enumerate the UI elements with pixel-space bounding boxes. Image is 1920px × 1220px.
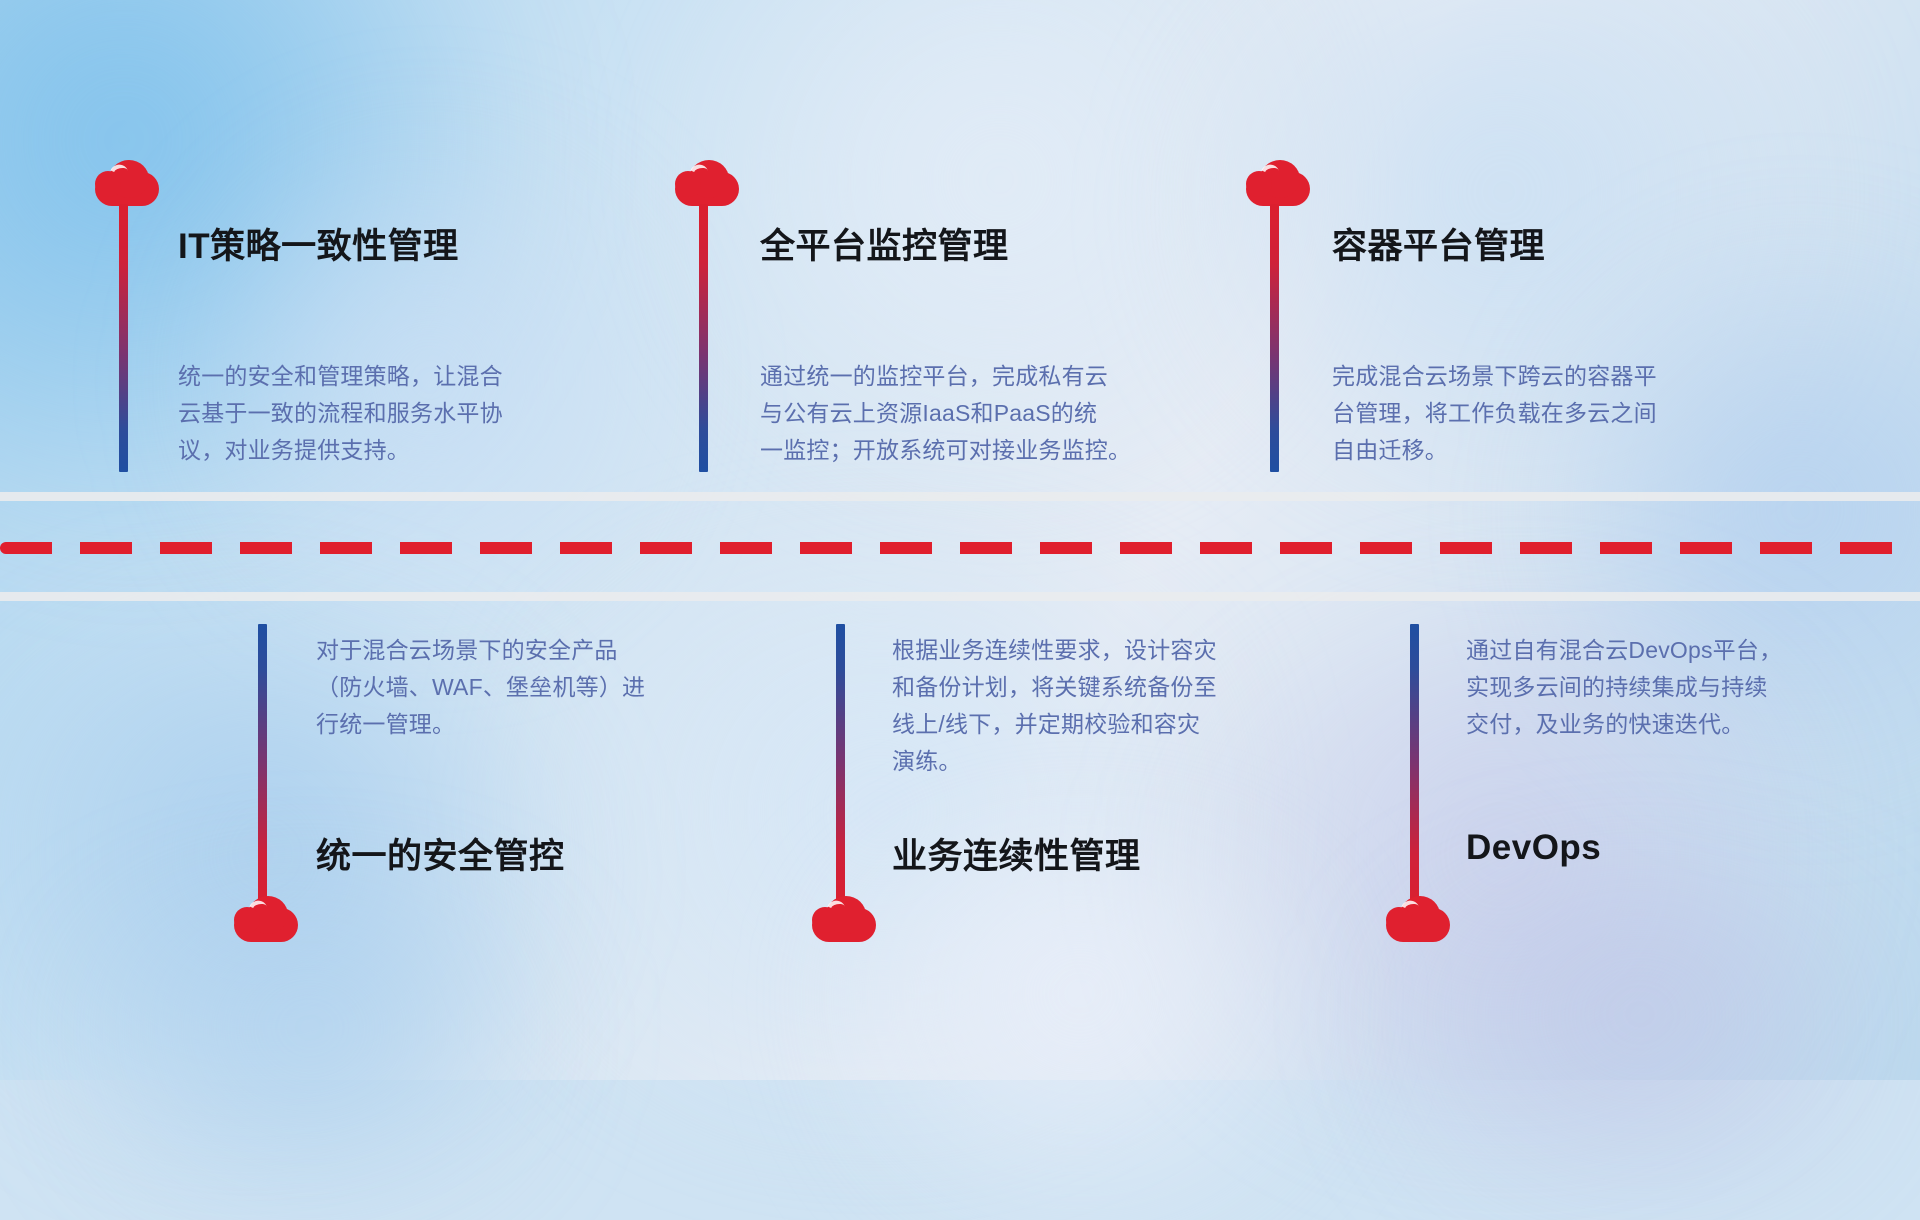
top-item-2-heading: 全平台监控管理 [760,218,1009,269]
connector-bar [258,624,267,912]
cloud-icon [1246,160,1310,206]
top-item-3-heading: 容器平台管理 [1332,218,1545,269]
top-item-1-heading: IT策略一致性管理 [178,218,459,269]
cloud-icon [234,896,298,942]
bottom-item-2-heading: 业务连续性管理 [892,828,1141,879]
bottom-item-2-body: 根据业务连续性要求，设计容灾 和备份计划，将关键系统备份至 线上/线下，并定期校… [892,632,1342,780]
divider-line-top [0,492,1920,501]
cloud-icon [1386,896,1450,942]
bottom-item-1-body: 对于混合云场景下的安全产品 （防火墙、WAF、堡垒机等）进 行统一管理。 [316,632,746,743]
connector-bar [699,204,708,472]
cloud-icon [675,160,739,206]
top-item-2-body: 通过统一的监控平台，完成私有云 与公有云上资源IaaS和PaaS的统 一监控；开… [760,358,1210,469]
bottom-item-3-body: 通过自有混合云DevOps平台， 实现多云间的持续集成与持续 交付，及业务的快速… [1466,632,1906,743]
bottom-item-1-heading: 统一的安全管控 [316,828,565,879]
cloud-icon [812,896,876,942]
top-item-3-body: 完成混合云场景下跨云的容器平 台管理，将工作负载在多云之间 自由迁移。 [1332,358,1782,469]
cloud-icon [95,160,159,206]
connector-bar [836,624,845,912]
divider-line-bottom [0,592,1920,601]
bottom-item-3-heading: DevOps [1466,828,1601,868]
connector-bar [1410,624,1419,912]
connector-bar [119,204,128,472]
divider-dashed-line [0,542,1920,554]
connector-bar [1270,204,1279,472]
top-item-1-body: 统一的安全和管理策略，让混合 云基于一致的流程和服务水平协 议，对业务提供支持。 [178,358,608,469]
